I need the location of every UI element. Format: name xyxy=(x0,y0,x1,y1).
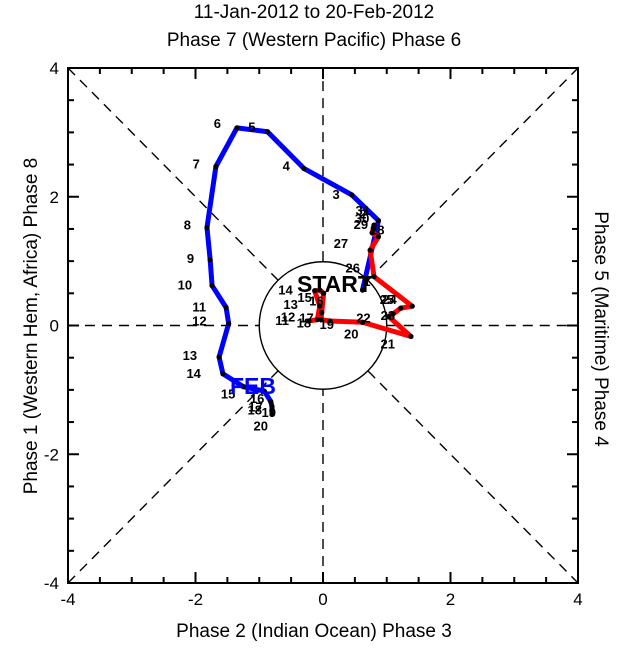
point-label: 21 xyxy=(381,336,395,351)
data-point xyxy=(268,399,273,404)
y-tick-label: 2 xyxy=(50,188,59,207)
point-label: 10 xyxy=(178,278,192,293)
point-label: 11 xyxy=(192,299,206,314)
point-label: 18 xyxy=(248,403,262,418)
x-tick-label: 2 xyxy=(446,590,455,609)
data-point xyxy=(319,310,324,315)
point-label: 20 xyxy=(254,418,268,433)
point-label: 28 xyxy=(370,223,384,238)
y-tick-label: 0 xyxy=(50,317,59,336)
x-tick-label: -2 xyxy=(188,590,203,609)
data-point xyxy=(234,125,239,130)
point-label: 6 xyxy=(214,116,221,131)
data-point xyxy=(224,305,229,310)
axis-tick-labels: -4-2024420-2-4 xyxy=(44,59,583,609)
x-tick-label: 0 xyxy=(318,590,327,609)
point-label: 13 xyxy=(183,348,197,363)
point-label: 25 xyxy=(380,292,394,307)
point-label: 14 xyxy=(186,366,201,381)
data-point xyxy=(213,164,218,169)
x-tick-label: -4 xyxy=(60,590,75,609)
point-label: 20 xyxy=(344,326,358,341)
point-label: 4 xyxy=(283,158,291,173)
start-annotation: START xyxy=(297,271,372,297)
point-label: 19 xyxy=(320,317,334,332)
data-point xyxy=(408,334,413,339)
point-label: 8 xyxy=(184,218,191,233)
data-point xyxy=(226,321,231,326)
point-label: 22 xyxy=(356,310,370,325)
data-point xyxy=(398,306,403,311)
data-point xyxy=(204,225,209,230)
y-tick-label: -2 xyxy=(44,445,59,464)
y-tick-label: 4 xyxy=(50,59,59,78)
point-label: 18 xyxy=(297,316,311,331)
point-label: 13 xyxy=(283,297,297,312)
point-label: 12 xyxy=(192,314,206,329)
data-point xyxy=(220,371,225,376)
data-point xyxy=(209,283,214,288)
data-point xyxy=(208,257,213,262)
data-point xyxy=(368,248,373,253)
plot-canvas: -4-2024420-2-4 1234567891011121314151617… xyxy=(0,0,628,653)
data-point xyxy=(265,129,270,134)
point-label: 3 xyxy=(332,187,339,202)
point-label: 27 xyxy=(334,236,348,251)
data-point xyxy=(410,304,415,309)
point-label: 14 xyxy=(278,283,293,298)
data-point xyxy=(216,354,221,359)
x-tick-label: 4 xyxy=(573,590,582,609)
point-label: 9 xyxy=(187,251,194,266)
data-point xyxy=(349,192,354,197)
data-point xyxy=(371,274,376,279)
point-label: 31 xyxy=(356,203,370,218)
y-tick-label: -4 xyxy=(44,574,59,593)
mjo-phase-diagram: 11-Jan-2012 to 20-Feb-2012 Phase 7 (West… xyxy=(0,0,628,653)
point-label: 5 xyxy=(248,120,255,135)
month-annotation: FEB xyxy=(230,373,276,399)
point-label: 23 xyxy=(381,308,395,323)
data-point xyxy=(301,166,306,171)
point-label: 7 xyxy=(193,156,200,171)
